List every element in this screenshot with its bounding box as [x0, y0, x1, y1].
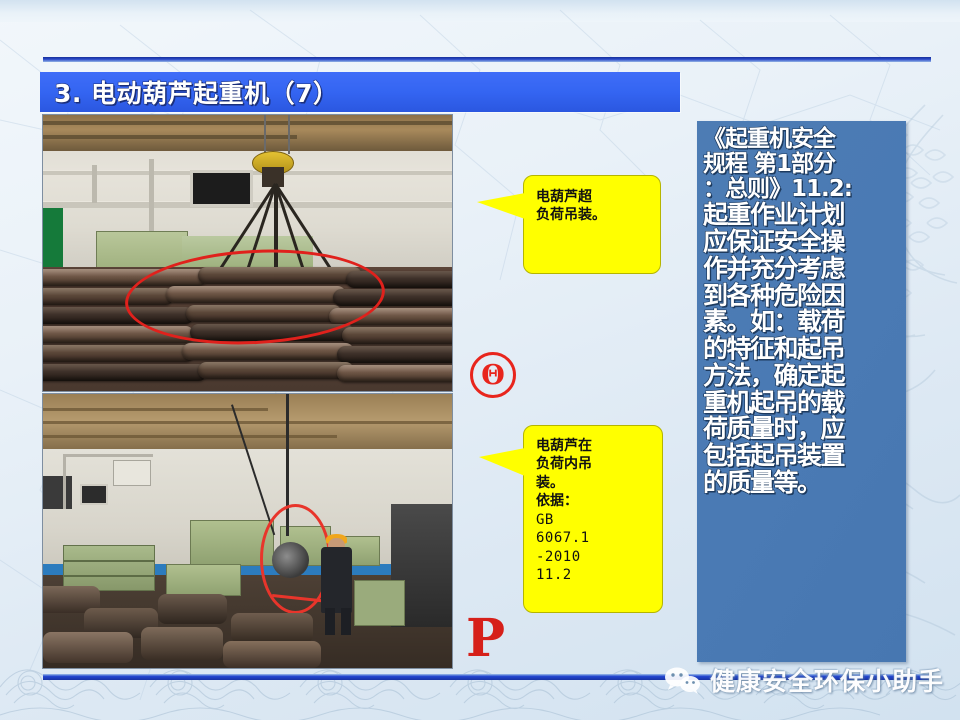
slide-canvas: 3. 电动葫芦起重机（7） — [0, 0, 960, 720]
wall-window — [80, 484, 109, 504]
standard-body-line: 素。如：载荷 — [703, 309, 901, 336]
callout-line-standard: 11.2 — [536, 566, 654, 584]
photo-bottom-scene — [43, 394, 452, 668]
standard-body-line: 的质量等。 — [703, 470, 901, 497]
wall-window — [190, 170, 253, 206]
slide-title-bar: 3. 电动葫芦起重机（7） — [40, 72, 680, 112]
standard-body-line: 应保证安全操 — [703, 229, 901, 256]
green-machine — [166, 564, 242, 596]
watermark: 健康安全环保小助手 — [663, 660, 944, 700]
callout-line-standard: GB — [536, 511, 654, 529]
page-title: 3. 电动葫芦起重机（7） — [40, 74, 339, 110]
green-cabinet-left — [43, 206, 63, 272]
callout-line: 负荷内吊 — [536, 455, 654, 473]
standard-heading-line: ：总则》11.2: — [703, 177, 901, 202]
vertical-pipe — [63, 454, 66, 509]
top-divider-rule — [43, 57, 931, 62]
top-sheen-band — [0, 0, 960, 22]
standard-body: 起重作业计划 应保证安全操 作并充分考虑 到各种危险因 素。如：载荷 的特征和起… — [703, 202, 901, 496]
watermark-text: 健康安全环保小助手 — [710, 662, 944, 698]
photo-top-scene — [43, 115, 452, 391]
hoist-cable — [264, 115, 266, 154]
vertical-pipe — [149, 159, 154, 236]
status-badge-correct: P — [466, 613, 505, 665]
callout-tail — [477, 193, 525, 219]
standard-body-line: 到各种危险因 — [703, 283, 901, 310]
worker-leg — [325, 608, 335, 635]
photo-top-overload-hoisting — [42, 114, 453, 392]
standard-body-line: 作并充分考虑 — [703, 256, 901, 283]
standard-heading: 《起重机安全 规程 第1部分 ：总则》11.2: — [703, 127, 901, 201]
standard-heading-line: 规程 第1部分 — [703, 152, 901, 177]
callout-tail — [479, 448, 525, 476]
roof-beam — [43, 121, 452, 125]
callout-line: 负荷吊装。 — [536, 206, 650, 224]
wall-duct — [113, 460, 152, 487]
ceiling-pipe — [63, 454, 153, 457]
callout-line: 依据： — [536, 492, 654, 510]
callout-line: 电葫芦在 — [536, 437, 654, 455]
green-crate — [354, 580, 405, 626]
parts-shelf — [63, 545, 155, 591]
standard-heading-line: 《起重机安全 — [703, 127, 901, 152]
wall-panel — [43, 476, 72, 509]
callout-line-standard: 6067.1 — [536, 529, 654, 547]
callout-within-load: 电葫芦在 负荷内吊 装。 依据： GB 6067.1 -2010 11.2 — [523, 425, 663, 613]
photo-bottom-correct-hoisting — [42, 393, 453, 669]
roof-beam — [43, 135, 297, 139]
status-badge-incorrect: Θ — [470, 352, 516, 398]
wechat-icon — [663, 665, 703, 695]
callout-line-standard: -2010 — [536, 548, 654, 566]
hoist-cable — [288, 115, 290, 154]
callout-line: 装。 — [536, 474, 654, 492]
standard-body-line: 的特征和起吊 — [703, 336, 901, 363]
callout-line: 电葫芦超 — [536, 188, 650, 206]
worker-leg — [341, 608, 351, 635]
callout-overload: 电葫芦超 负荷吊装。 — [523, 175, 661, 274]
standard-reference-panel: 《起重机安全 规程 第1部分 ：总则》11.2: 起重作业计划 应保证安全操 作… — [697, 121, 906, 662]
standard-body-line: 方法，确定起 — [703, 363, 901, 390]
vertical-pipe — [92, 165, 97, 204]
standard-body-line: 包括起吊装置 — [703, 443, 901, 470]
standard-body-line: 起重作业计划 — [703, 202, 901, 229]
worker-body — [321, 547, 352, 613]
standard-body-line: 重机起吊的载 — [703, 390, 901, 417]
standard-body-line: 荷质量时，应 — [703, 416, 901, 443]
